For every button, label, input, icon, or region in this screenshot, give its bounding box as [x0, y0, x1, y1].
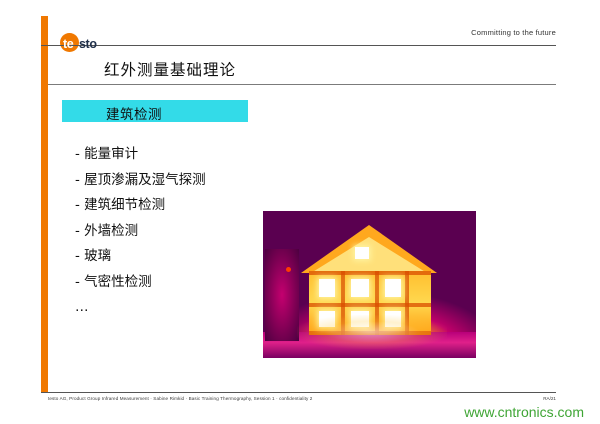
thermal-beam [309, 271, 431, 275]
footer-page-number: RA/21 [543, 396, 556, 401]
thermal-roof-inner [311, 237, 427, 273]
thermal-window [385, 279, 401, 297]
list-item: - 能量审计 [75, 142, 275, 168]
thermal-measurement-spot-icon [286, 267, 291, 272]
thermal-roof-window [355, 247, 369, 259]
thermal-beam [309, 303, 431, 307]
bullet-list: - 能量审计 - 屋顶渗漏及湿气探测 - 建筑细节检测 - 外墙检测 - 玻璃 … [75, 142, 275, 321]
thermal-window [351, 279, 369, 297]
list-item: - 建筑细节检测 [75, 193, 275, 219]
thermal-window [319, 279, 335, 297]
list-item: - 气密性检测 [75, 270, 275, 296]
logo-text-primary: te [63, 37, 73, 51]
accent-bar-left [41, 16, 48, 392]
footer-text: testo AG, Product Group Infrared Measure… [48, 396, 312, 401]
slide-canvas: Committing to the future te sto 红外测量基础理论… [0, 0, 600, 424]
footer-divider [41, 392, 556, 393]
logo-text-secondary: sto [79, 37, 97, 51]
list-item: - 外墙检测 [75, 219, 275, 245]
thermal-tree [265, 249, 299, 341]
thermal-glow [297, 315, 447, 349]
header-divider [41, 45, 556, 46]
thermal-image [263, 211, 476, 358]
list-item: … [75, 295, 275, 321]
list-item: - 屋顶渗漏及湿气探测 [75, 168, 275, 194]
subtitle-text: 建筑检测 [106, 103, 162, 123]
list-item: - 玻璃 [75, 244, 275, 270]
page-title: 红外测量基础理论 [104, 58, 236, 80]
tagline-text: Committing to the future [471, 28, 556, 37]
watermark-url: www.cntronics.com [464, 404, 584, 420]
